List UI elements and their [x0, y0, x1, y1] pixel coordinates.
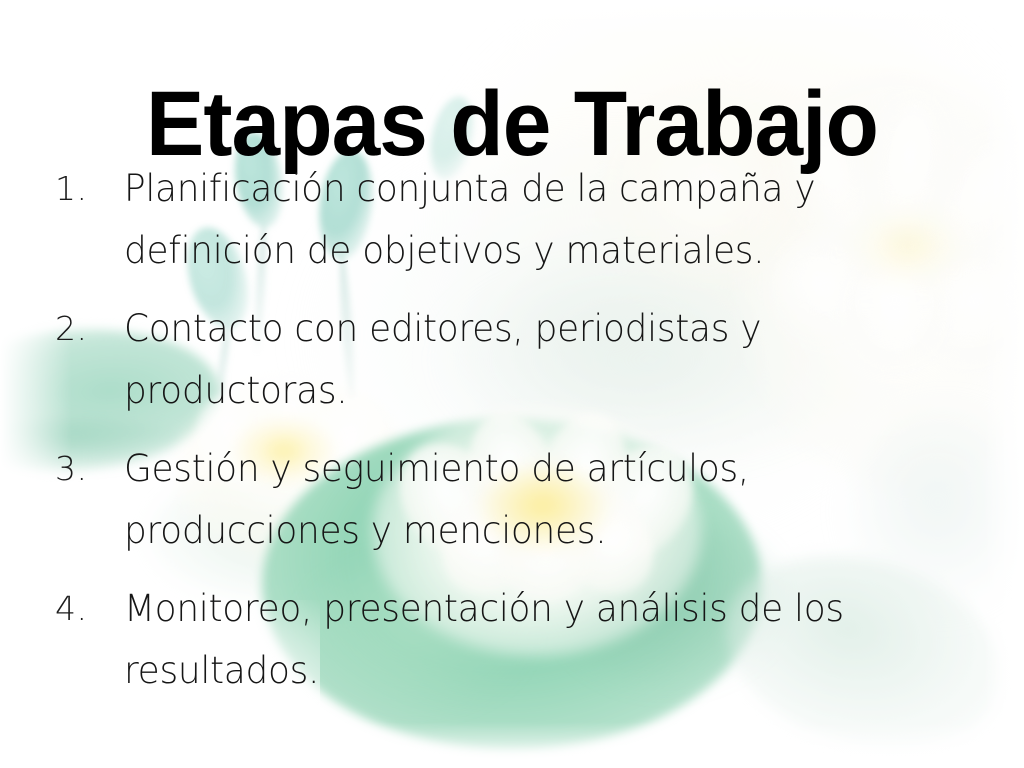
list-item-text: Planificación conjunta de la campaña y d…: [124, 158, 939, 282]
list-item-text: Gestión y seguimiento de artículos, prod…: [124, 438, 939, 562]
list-item: 4. Monitoreo, presentación y análisis de…: [46, 578, 964, 702]
list-item-number: 4.: [46, 578, 124, 640]
list-item-text: Monitoreo, presentación y análisis de lo…: [124, 578, 939, 702]
list-item-number: 1.: [46, 158, 124, 220]
slide-content: Etapas de Trabajo 1. Planificación conju…: [0, 0, 1024, 768]
list-item-number: 3.: [46, 438, 124, 500]
list-item-text: Contacto con editores, periodistas y pro…: [124, 298, 939, 422]
presentation-slide: Etapas de Trabajo 1. Planificación conju…: [0, 0, 1024, 768]
list-item: 1. Planificación conjunta de la campaña …: [46, 158, 964, 282]
list-item-number: 2.: [46, 298, 124, 360]
numbered-step-list: 1. Planificación conjunta de la campaña …: [46, 158, 964, 702]
list-item: 2. Contacto con editores, periodistas y …: [46, 298, 964, 422]
list-item: 3. Gestión y seguimiento de artículos, p…: [46, 438, 964, 562]
